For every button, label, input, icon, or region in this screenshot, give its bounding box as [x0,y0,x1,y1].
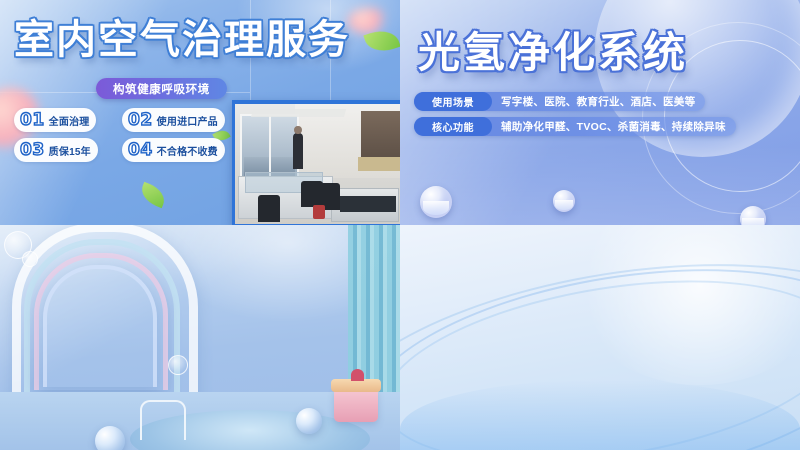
poster-grid: 室内空气治理服务 构筑健康呼吸环境 01 全面治理 02 使用进口产品 03 质… [0,0,800,450]
feature-number: 02 [128,112,153,129]
panel1-title: 室内空气治理服务 [14,20,350,60]
spec-value: 写字楼、医院、教育行业、酒店、医美等 [492,94,695,109]
feature-label: 不合格不收费 [157,143,218,158]
water-drop-sphere [420,186,452,218]
panel1-feature-list: 01 全面治理 02 使用进口产品 03 质保15年 04 不合格不收费 [14,108,229,162]
spec-key: 核心功能 [414,117,492,136]
panel-photohydrogen: 光氢净化系统 使用场景 写字楼、医院、教育行业、酒店、医美等 核心功能 辅助净化… [400,0,800,225]
pink-blob [348,8,388,34]
feature-label: 质保15年 [49,143,91,158]
bubble-decor [22,251,38,267]
feature-label: 全面治理 [49,113,90,128]
office-ledge [358,157,400,171]
office-illustration [235,104,400,224]
feature-item[interactable]: 03 质保15年 [14,138,98,162]
panel1-photo[interactable] [232,100,400,225]
glass-orb [95,426,125,450]
panel1-badge: 构筑健康呼吸环境 [96,78,227,99]
feature-item[interactable]: 04 不合格不收费 [122,138,225,162]
ceiling-beam [250,109,345,117]
spec-row-usage: 使用场景 写字楼、医院、教育行业、酒店、医美等 [414,92,705,111]
panel-pest-control: 四害/白蚁防治服务 ☎ 电话预约 ▶ 🔍 现场勘察 ▶ ▤ 危害评估 ✷ 治理施… [400,225,800,450]
water-drop-sphere [553,190,575,212]
office-brown-panel [361,111,400,159]
spec-row-function: 核心功能 辅助净化甲醛、TVOC、杀菌消毒、持续除异味 [414,117,736,136]
pool-railing [140,400,186,440]
water-drop-sphere [740,206,766,225]
feature-number: 04 [128,142,153,159]
panel2-title: 光氢净化系统 [418,32,688,74]
feature-item[interactable]: 02 使用进口产品 [122,108,225,132]
office-chair [258,195,280,221]
gift-box-decor [334,388,378,422]
spec-value: 辅助净化甲醛、TVOC、杀菌消毒、持续除异味 [492,119,726,134]
desk-surface-dark [340,196,396,212]
spec-key: 使用场景 [414,92,492,111]
worker-figure [293,133,303,169]
arch-decor [43,265,157,387]
feature-number: 03 [20,142,45,159]
glass-orb [296,408,322,434]
feature-number: 01 [20,112,45,129]
feature-item[interactable]: 01 全面治理 [14,108,96,132]
red-chair [313,205,325,219]
panel-stone-care: 石材护理服务 石材结晶 石材病变 石材翻新 石材养护 [0,225,400,450]
feature-label: 使用进口产品 [157,113,218,128]
panel-indoor-air: 室内空气治理服务 构筑健康呼吸环境 01 全面治理 02 使用进口产品 03 质… [0,0,400,225]
bubble-decor [168,355,188,375]
